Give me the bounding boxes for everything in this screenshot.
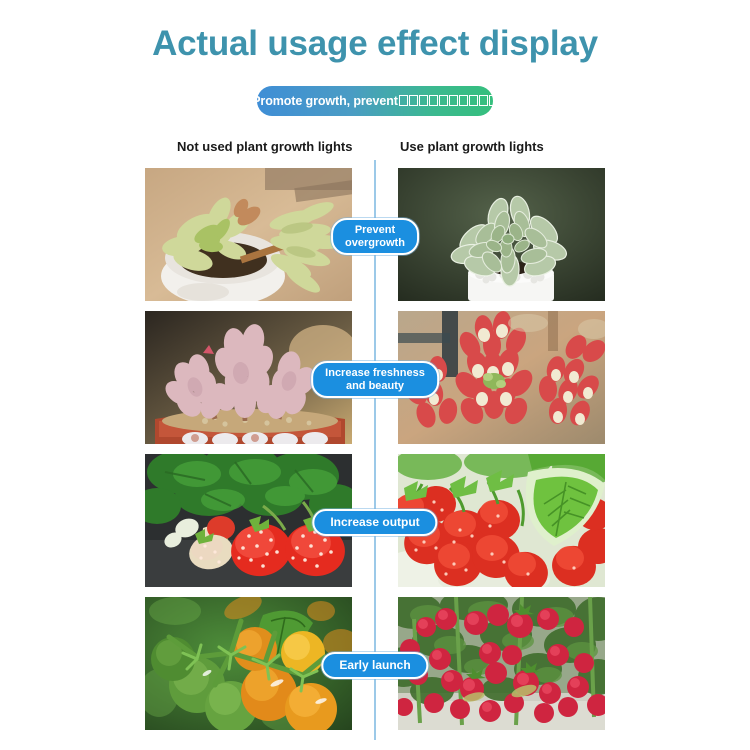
subtitle-badge-text: Promote growth, prevent [252, 94, 398, 108]
subtitle-badge-label: Promote growth, prevent [252, 94, 498, 108]
subtitle-missing-glyphs [399, 95, 498, 106]
column-header-used: Use plant growth lights [400, 139, 544, 154]
row-center-label: Prevent overgrowth [331, 218, 419, 255]
column-header-not-used: Not used plant growth lights [177, 139, 353, 154]
ripe-tomato-photo [398, 597, 605, 730]
row-center-label: Increase freshness and beauty [311, 361, 439, 398]
comparison-row: Early launch [145, 597, 605, 730]
etiolated-succulent-photo [145, 168, 352, 301]
column-headers: Not used plant growth lights Use plant g… [145, 139, 605, 159]
subtitle-badge: Promote growth, prevent [257, 86, 493, 116]
comparison-grid: Prevent overgrowth [145, 168, 605, 740]
comparison-row: Increase freshness and beauty [145, 311, 605, 444]
comparison-row: Increase output [145, 454, 605, 587]
compact-succulent-photo [398, 168, 605, 301]
row-center-label: Increase output [312, 509, 437, 536]
row-center-label: Early launch [321, 652, 428, 679]
page-title: Actual usage effect display [0, 20, 750, 68]
page-root: Actual usage effect display Promote grow… [0, 0, 750, 750]
comparison-row: Prevent overgrowth [145, 168, 605, 301]
